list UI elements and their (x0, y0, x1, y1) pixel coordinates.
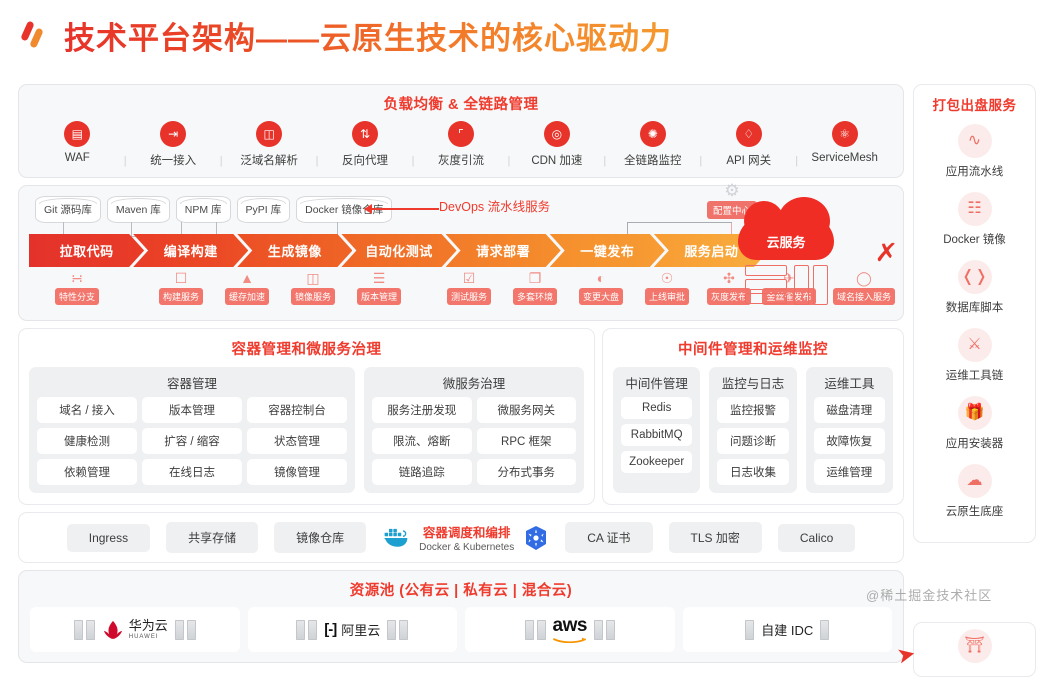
sidebar-item-label: 云原生底座 (920, 503, 1029, 519)
cell-item[interactable]: 日志收集 (717, 459, 788, 485)
cell-item[interactable]: 容器控制台 (247, 397, 347, 423)
pipeline-tag-row: ∺特性分支 ☐构建服务 ▲缓存加速 ◫镜像服务 ☰版本管理 ☑测试服务 ❐多套环… (29, 271, 789, 313)
cell-item[interactable]: RPC 框架 (477, 428, 576, 454)
middleware-ops-section: 中间件管理和运维监控 中间件管理 Redis RabbitMQ Zookeepe… (602, 328, 904, 505)
sidebar-item-app-installer[interactable]: 🎁 应用安装器 (920, 396, 1029, 451)
cell-item[interactable]: 问题诊断 (717, 428, 788, 454)
server-rack-icon (74, 620, 95, 640)
huawei-brand: 华为云 HUAWEI (102, 619, 168, 640)
branch-icon: ∺ (45, 271, 109, 286)
load-balance-section: 负载均衡 & 全链路管理 ▤ WAF | ⇥ 统一接入 | ◫ 泛域名解析 | (18, 84, 904, 178)
rocket-icon: ▲ (215, 271, 279, 286)
pill-ca-cert[interactable]: CA 证书 (565, 522, 652, 553)
provider-name: 自建 IDC (761, 620, 813, 639)
repo-npm[interactable]: NPM 库 (176, 196, 231, 223)
sidebar-item-label: 应用流水线 (920, 163, 1029, 179)
server-rack-icon (525, 620, 546, 640)
lb-item-label: 灰度引流 (438, 152, 484, 168)
pipeline-flow-icon: ∿ (958, 124, 992, 158)
group-container-management: 容器管理 域名 / 接入 版本管理 容器控制台 健康检测 扩容 / 缩容 状态管… (29, 367, 355, 493)
idc-brand: 自建 IDC (761, 620, 813, 639)
traffic-split-icon: ⌜ (448, 121, 474, 147)
dns-card-icon: ◫ (256, 121, 282, 147)
platform-capability-row: 容器管理和微服务治理 容器管理 域名 / 接入 版本管理 容器控制台 健康检测 … (18, 328, 904, 505)
tag-change-board[interactable]: ◐变更大盘 (569, 271, 633, 305)
cell-item[interactable]: 域名 / 接入 (37, 397, 137, 423)
load-balance-heading: 负载均衡 & 全链路管理 (19, 93, 903, 114)
resource-pool-heading: 资源池 (公有云 | 私有云 | 混合云) (30, 579, 892, 600)
sidebar-item-app-pipeline[interactable]: ∿ 应用流水线 (920, 124, 1029, 179)
cell-item[interactable]: 磁盘清理 (814, 397, 885, 423)
trace-monitor-icon: ✺ (640, 121, 666, 147)
image-icon: ◫ (281, 271, 345, 286)
double-slash-logo-icon (18, 18, 52, 52)
huawei-petal-icon (102, 620, 124, 640)
group-title: 微服务治理 (372, 373, 576, 392)
service-mesh-icon: ⚛ (832, 121, 858, 147)
lb-item-waf[interactable]: ▤ WAF (31, 121, 123, 164)
provider-name: 阿里云 (341, 620, 380, 639)
alibaba-cloud-icon: [-] (324, 621, 336, 638)
provider-idc[interactable]: 自建 IDC (683, 607, 893, 652)
tag-online-approval[interactable]: ☉上线审批 (635, 271, 699, 305)
repo-git[interactable]: Git 源码库 (35, 196, 101, 223)
lb-item-label: 泛域名解析 (240, 152, 298, 168)
repo-pypi[interactable]: PyPI 库 (237, 196, 291, 223)
lb-item-label: 反向代理 (342, 152, 388, 168)
cloud-icon: 云服务 (738, 216, 834, 260)
tag-image-service[interactable]: ◫镜像服务 (281, 271, 345, 305)
lb-item-label: CDN 加速 (531, 152, 582, 168)
repo-maven[interactable]: Maven 库 (107, 196, 170, 223)
waf-shield-icon: ▤ (64, 121, 90, 147)
server-rack-icon (175, 620, 196, 640)
devops-arrow-icon (371, 208, 439, 210)
server-rack-icon (296, 620, 317, 640)
cell-item[interactable]: 故障恢复 (814, 428, 885, 454)
provider-sub: HUAWEI (129, 634, 168, 640)
stage-build-image[interactable]: 生成镜像 (237, 234, 352, 267)
entry-arrow-icon: ⇥ (160, 121, 186, 147)
group-title: 中间件管理 (621, 373, 692, 392)
pill-ingress[interactable]: Ingress (67, 524, 150, 552)
pill-image-registry[interactable]: 镜像仓库 (274, 522, 366, 553)
code-window-icon: ❬❭ (958, 260, 992, 294)
group-microservice-governance: 微服务治理 服务注册发现 微服务网关 限流、熔断 RPC 框架 链路追踪 分布式… (364, 367, 584, 493)
server-rack-icon (594, 620, 615, 640)
api-gateway-icon: ♢ (736, 121, 762, 147)
cell-item[interactable]: 扩容 / 缩容 (142, 428, 242, 454)
cell-item[interactable]: 服务注册发现 (372, 397, 471, 423)
sidebar-item-label: 数据库脚本 (920, 299, 1029, 315)
cell-item[interactable]: 依赖管理 (37, 459, 137, 485)
sidebar-item-label: 应用安装器 (920, 435, 1029, 451)
swap-arrows-x-icon: ✗ (874, 238, 898, 268)
group-monitoring-logs: 监控与日志 监控报警 问题诊断 日志收集 (709, 367, 796, 493)
lb-item-wildcard-dns[interactable]: ◫ 泛域名解析 (223, 121, 315, 168)
cell-item[interactable]: 镜像管理 (247, 459, 347, 485)
orchestration-title-en: Docker & Kubernetes (419, 542, 514, 553)
lb-item-gray-traffic[interactable]: ⌜ 灰度引流 (415, 121, 507, 168)
aliyun-brand: [-] 阿里云 (324, 620, 380, 639)
group-middleware-management: 中间件管理 Redis RabbitMQ Zookeeper (613, 367, 700, 493)
container-section-heading: 容器管理和微服务治理 (29, 338, 584, 359)
stage-one-click-release[interactable]: 一键发布 (550, 234, 665, 267)
sidebar-item-ops-toolchain[interactable]: ⚔ 运维工具链 (920, 328, 1029, 383)
cell-item[interactable]: Redis (621, 397, 692, 419)
tag-version-mgmt[interactable]: ☰版本管理 (347, 271, 411, 305)
sidebar-item-docker-image[interactable]: ☷ Docker 镜像 (920, 192, 1029, 247)
pill-tls[interactable]: TLS 加密 (669, 522, 762, 553)
stage-request-deploy[interactable]: 请求部署 (446, 234, 561, 267)
sidebar-item-label: Docker 镜像 (920, 231, 1029, 247)
server-rack-icon (387, 620, 408, 640)
devops-pipeline-label: DevOps 流水线服务 (439, 196, 550, 215)
tag-multi-env[interactable]: ❐多套环境 (503, 271, 567, 305)
gear-icon: ⚙ (695, 182, 769, 199)
cell-item[interactable]: 链路追踪 (372, 459, 471, 485)
tag-cache-accel[interactable]: ▲缓存加速 (215, 271, 279, 305)
tag-feature-branch[interactable]: ∺特性分支 (45, 271, 109, 305)
lb-item-unified-access[interactable]: ⇥ 统一接入 (127, 121, 219, 168)
cell-item[interactable]: 运维管理 (814, 459, 885, 485)
lb-item-label: WAF (65, 152, 90, 164)
orchestration-title-cn: 容器调度和编排 (419, 522, 514, 541)
tag-build-service[interactable]: ☐构建服务 (149, 271, 213, 305)
page-header: 技术平台架构——云原生技术的核心驱动力 (0, 0, 1048, 62)
page-title: 技术平台架构——云原生技术的核心驱动力 (64, 13, 672, 58)
lb-item-label: API 网关 (726, 152, 771, 168)
docker-whale-icon: ☷ (958, 192, 992, 226)
layers-icon: ☰ (347, 271, 411, 286)
sidebar-bottom-item[interactable]: ⛩ (913, 622, 1036, 677)
provider-huawei[interactable]: 华为云 HUAWEI (30, 607, 240, 652)
devops-pipeline-section: Git 源码库 Maven 库 NPM 库 PyPI 库 Docker 镜像仓库… (18, 185, 904, 321)
sidebar-item-db-script[interactable]: ❬❭ 数据库脚本 (920, 260, 1029, 315)
cdn-target-icon: ◎ (544, 121, 570, 147)
resource-pool-section: 资源池 (公有云 | 私有云 | 混合云) 华为云 HUAWEI (18, 570, 904, 663)
container-microservice-section: 容器管理和微服务治理 容器管理 域名 / 接入 版本管理 容器控制台 健康检测 … (18, 328, 595, 505)
cloud-service-group: 云服务 (731, 216, 841, 305)
stamp-icon: ☉ (635, 271, 699, 286)
main-column: 负载均衡 & 全链路管理 ▤ WAF | ⇥ 统一接入 | ◫ 泛域名解析 | (18, 84, 904, 663)
cloud-base-icon: ☁ (958, 464, 992, 498)
group-title: 容器管理 (37, 373, 347, 392)
gauge-icon: ◐ (569, 271, 633, 286)
tag-test-service[interactable]: ☑测试服务 (437, 271, 501, 305)
stage-build[interactable]: 编译构建 (133, 234, 248, 267)
server-rack-icon (820, 620, 829, 640)
group-ops-tools: 运维工具 磁盘清理 故障恢复 运维管理 (806, 367, 893, 493)
build-box-icon: ☐ (149, 271, 213, 286)
aws-swoosh-icon (553, 636, 587, 643)
server-racks (731, 265, 841, 305)
sidebar-heading: 打包出盘服务 (920, 94, 1029, 114)
lb-item-reverse-proxy[interactable]: ⇅ 反向代理 (319, 121, 411, 168)
diagram-canvas: 负载均衡 & 全链路管理 ▤ WAF | ⇥ 统一接入 | ◫ 泛域名解析 | (0, 62, 1048, 622)
orchestration-section: Ingress 共享存储 镜像仓库 容器调度和编排 Docker & Kuber… (18, 512, 904, 563)
server-rack-icon (745, 620, 754, 640)
cell-item[interactable]: 监控报警 (717, 397, 788, 423)
cell-item[interactable]: Zookeeper (621, 451, 692, 473)
cell-item[interactable]: 微服务网关 (477, 397, 576, 423)
sidebar-item-cloud-native-base[interactable]: ☁ 云原生底座 (920, 464, 1029, 519)
cell-item[interactable]: 状态管理 (247, 428, 347, 454)
middleware-section-heading: 中间件管理和运维监控 (613, 338, 893, 359)
packaging-sidebar: 打包出盘服务 ∿ 应用流水线 ☷ Docker 镜像 ❬❭ 数据库脚本 ⚔ 运维… (913, 84, 1036, 543)
load-balance-icon-row: ▤ WAF | ⇥ 统一接入 | ◫ 泛域名解析 | ⇅ 反向代理 | (19, 121, 903, 168)
server-tower-group (794, 265, 828, 305)
cell-item[interactable]: RabbitMQ (621, 424, 692, 446)
proxy-arrows-icon: ⇅ (352, 121, 378, 147)
pipeline-stages: 拉取代码 编译构建 生成镜像 自动化测试 请求部署 一键发布 服务启动 (29, 234, 769, 267)
provider-name: aws (553, 616, 587, 635)
lb-item-label: ServiceMesh (811, 152, 877, 164)
copies-icon: ❐ (503, 271, 567, 286)
cloud-service-label: 云服务 (738, 216, 834, 260)
group-title: 监控与日志 (717, 373, 788, 392)
cell-item[interactable]: 限流、熔断 (372, 428, 471, 454)
lb-item-label: 全链路监控 (624, 152, 682, 168)
lb-item-label: 统一接入 (150, 152, 196, 168)
watermark: @稀土掘金技术社区 (866, 585, 992, 604)
provider-name: 华为云 (129, 619, 168, 632)
lb-item-api-gateway[interactable]: ♢ API 网关 (703, 121, 795, 168)
lb-item-service-mesh[interactable]: ⚛ ServiceMesh (799, 121, 891, 164)
clipboard-check-icon: ☑ (437, 271, 501, 286)
lb-item-cdn[interactable]: ◎ CDN 加速 (511, 121, 603, 168)
cell-item[interactable]: 在线日志 (142, 459, 242, 485)
provider-aws[interactable]: aws (465, 607, 675, 652)
pill-shared-storage[interactable]: 共享存储 (166, 522, 258, 553)
cell-item[interactable]: 版本管理 (142, 397, 242, 423)
kubernetes-helm-icon (523, 525, 549, 551)
rack-unit-group (745, 265, 787, 305)
tools-wrench-icon: ⚔ (958, 328, 992, 362)
group-title: 运维工具 (814, 373, 885, 392)
gift-box-icon: 🎁 (958, 396, 992, 430)
provider-aliyun[interactable]: [-] 阿里云 (248, 607, 458, 652)
cell-item[interactable]: 分布式事务 (477, 459, 576, 485)
aws-logo-icon: aws (553, 616, 587, 643)
stage-auto-test[interactable]: 自动化测试 (341, 234, 456, 267)
sidebar-item-label: 运维工具链 (920, 367, 1029, 383)
stage-pull-code[interactable]: 拉取代码 (29, 234, 144, 267)
cell-item[interactable]: 健康检测 (37, 428, 137, 454)
orchestration-center: 容器调度和编排 Docker & Kubernetes (382, 522, 549, 553)
pill-calico[interactable]: Calico (778, 524, 855, 552)
lb-item-full-trace[interactable]: ✺ 全链路监控 (607, 121, 699, 168)
package-dome-icon: ⛩ (958, 629, 992, 663)
docker-whale-icon (382, 526, 410, 550)
